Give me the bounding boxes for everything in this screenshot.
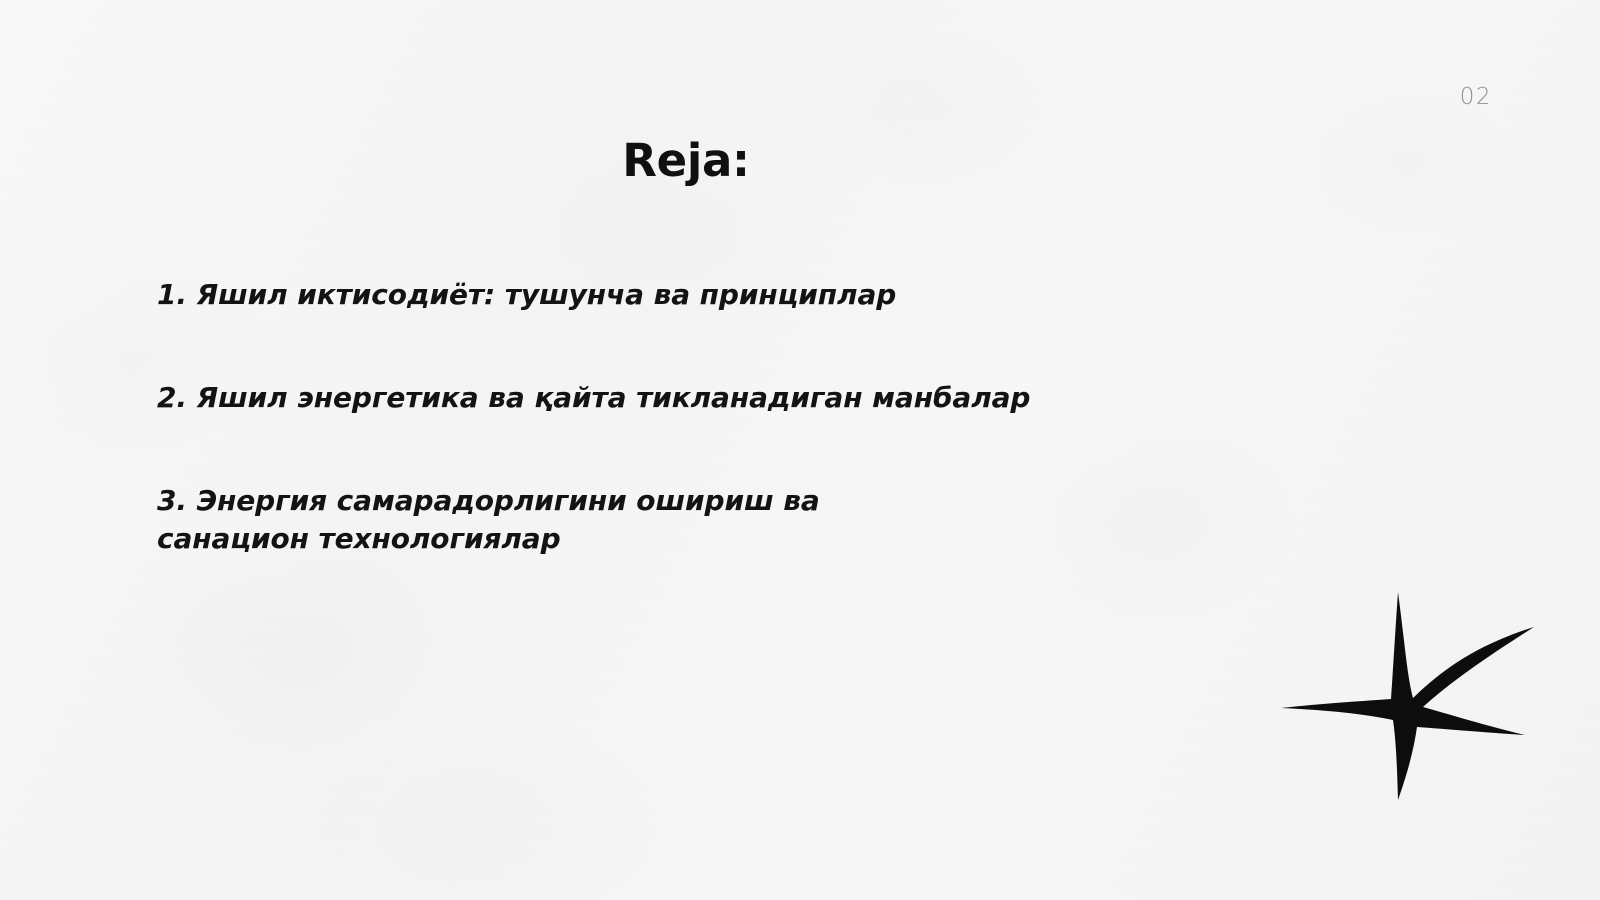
five-pointed-star-icon	[1281, 592, 1534, 800]
page-number: 02	[1460, 84, 1492, 110]
star-decoration	[1255, 575, 1555, 815]
presentation-slide: 02 Reja: 1. Яшил иктисодиёт: тушунча ва …	[0, 0, 1600, 900]
list-item: 3. Энергия самарадорлигини ошириш ва сан…	[157, 482, 957, 556]
list-item: 2. Яшил энергетика ва қайта тикланадиган…	[157, 379, 1207, 416]
page-title: Reja:	[0, 134, 1372, 187]
agenda-list: 1. Яшил иктисодиёт: тушунча ва принципла…	[157, 276, 1207, 557]
list-item: 1. Яшил иктисодиёт: тушунча ва принципла…	[157, 276, 1207, 313]
